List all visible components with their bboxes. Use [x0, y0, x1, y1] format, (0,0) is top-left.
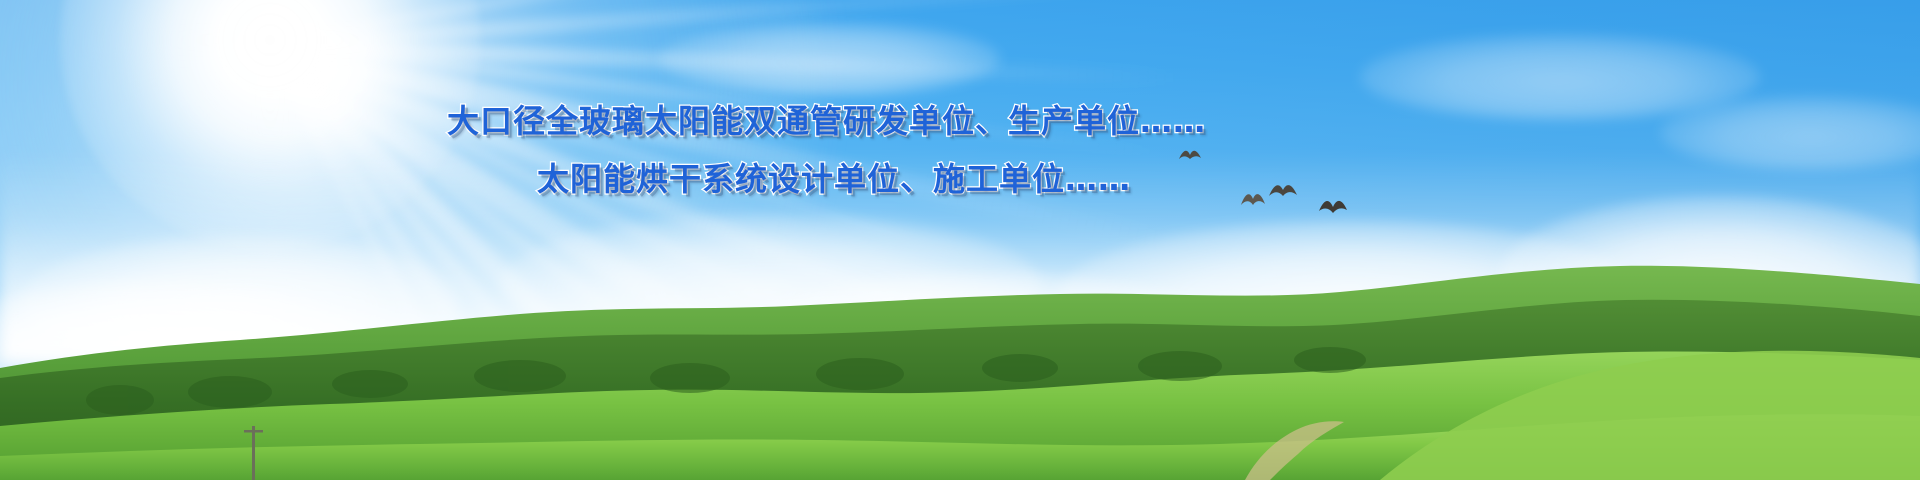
hero-banner: 大口径全玻璃太阳能双通管研发单位、生产单位…… 太阳能烘干系统设计单位、施工单位… — [0, 0, 1920, 480]
headline-line-1: 大口径全玻璃太阳能双通管研发单位、生产单位…… — [447, 92, 1920, 150]
hills-landscape — [0, 250, 1920, 480]
cloud-high — [660, 22, 1000, 96]
headline-block: 大口径全玻璃太阳能双通管研发单位、生产单位…… 太阳能烘干系统设计单位、施工单位… — [0, 92, 1920, 208]
headline-line-2: 太阳能烘干系统设计单位、施工单位…… — [447, 150, 1920, 208]
